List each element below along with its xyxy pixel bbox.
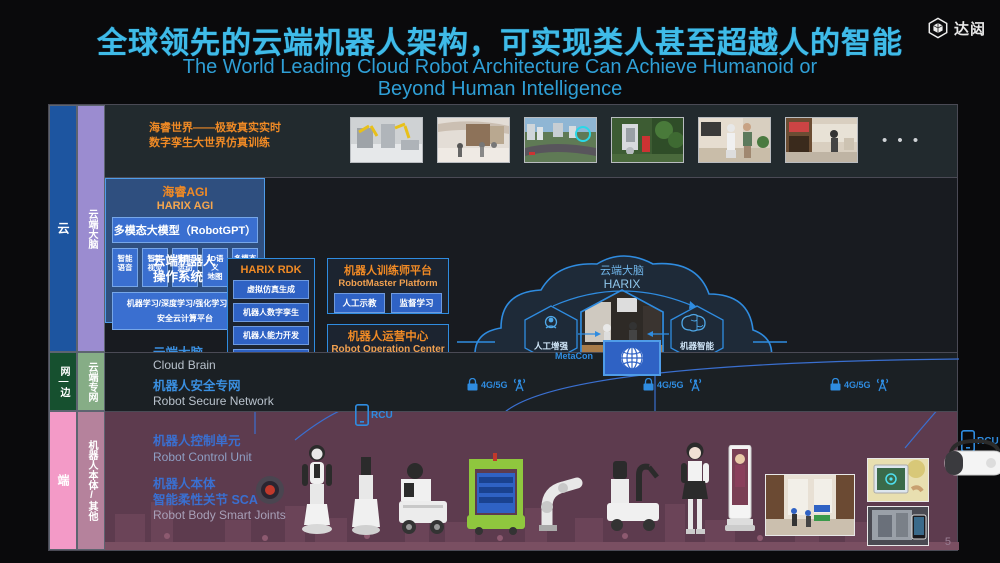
slide-header: 全球领先的云端机器人架构，可实现类人甚至超越人的智能 The World Lea… [0,0,1000,104]
device-humanoid-robot-female [677,441,713,540]
antenna-icon [874,377,891,392]
lock-icon [643,378,654,391]
rdk-item-1[interactable]: 机器人数字孪生 [233,303,309,322]
cloud-os-label: 云端机器人 操作系统 [153,253,216,285]
metacon-label: MetaCon [555,351,593,361]
simulation-strip-label: 海睿世界——极致真实实时 数字孪生大世界仿真训练 [149,121,281,151]
brand-name: 达闼 [954,18,986,39]
metacon-node[interactable] [603,340,661,376]
rail-edge-inner-label: 机器人本体/其他 [84,440,98,521]
device-showroom-display [765,474,855,536]
lock-icon [467,378,478,391]
agi-cap-0-l2: 语音 [113,263,137,272]
rcu-left-label: RCU [371,410,393,421]
device-digital-signage-kiosk [725,445,755,538]
rail-edge-outer: 端 [49,411,77,550]
thumbnail-smart-city-aerial [524,117,597,163]
lock-icon [830,378,841,391]
device-cleaning-robot [349,457,383,540]
simulation-thumbnails: • • • [350,117,921,163]
agi-title-cn: 海睿AGI [106,183,264,200]
robotmaster-items: 人工示教 监督学习 [334,293,442,313]
thumbnail-outdoor-robot-garden [611,117,684,163]
architecture-frame: 云 云端大脑 网—边 云端专网 端 机器人本体/其他 海睿世界——极致真实实时 … [48,104,958,551]
page-number: 5 [945,536,951,548]
page-title-en: The World Leading Cloud Robot Architectu… [120,56,880,100]
signal-group-3: 4G/5G [830,377,891,392]
operation-center-title-cn: 机器人运营中心 [328,328,448,344]
rail-edge-inner: 机器人本体/其他 [77,411,105,550]
signal-label-3: 4G/5G [844,380,871,390]
thumbnail-robot-arms-factory [350,117,423,163]
cloud-band: 云端机器人 操作系统 云端大脑 HARIX RDK 虚拟仿真生成 机器人数字孪生… [105,177,957,352]
robot-body-cn: 机器人本体 智能柔性关节 SCA [153,476,258,508]
antenna-icon [511,377,528,392]
signal-label-1: 4G/5G [481,380,508,390]
cloud-label-en: HARIX [580,277,664,291]
hexagon-cube-icon [927,17,949,39]
signal-group-2: 4G/5G [643,377,704,392]
page-title-en-line2: Beyond Human Intelligence [120,78,880,100]
device-smart-joint-actuator [255,475,285,510]
simulation-strip: 海睿世界——极致真实实时 数字孪生大世界仿真训练 [105,105,957,177]
slide-root: 全球领先的云端机器人架构，可实现类人甚至超越人的智能 The World Lea… [0,0,1000,563]
agi-capability-voice[interactable]: 智能 语音 [112,248,138,287]
rail-net-outer-label: 网—边 [56,366,70,397]
rail-cloud-outer: 云 [49,105,77,352]
robot-control-unit-en: Robot Control Unit [153,450,252,464]
rail-cloud-inner-label: 云端大脑 [84,209,98,249]
signal-label-2: 4G/5G [657,380,684,390]
rail-edge-outer-label: 端 [56,474,70,487]
rdk-item-0[interactable]: 虚拟仿真生成 [233,280,309,299]
robotmaster-title-cn: 机器人训练师平台 [328,262,448,278]
page-title-en-line1: The World Leading Cloud Robot Architectu… [120,56,880,78]
robot-body-en: Robot Body Smart Joints [153,508,286,522]
agi-cap-0-l1: 智能 [113,254,137,263]
device-vending-robot-cart [465,453,527,540]
device-ar-phone-camera [867,506,929,546]
network-band: Cloud Brain 机器人安全专网 Robot Secure Network [105,352,957,411]
device-humanoid-service-robot [297,443,337,540]
rail-net-outer: 网—边 [49,352,77,411]
harix-rdk-title: HARIX RDK [228,264,314,276]
cloud-os-label-line1: 云端机器人 [153,253,216,269]
rail-net-inner-label: 云端专网 [84,362,98,402]
smartphone-icon [355,404,369,426]
rail-cloud-outer-label: 云 [56,222,70,235]
cloud-os-label-line2: 操作系统 [153,269,216,285]
brand-logo: 达闼 [927,17,986,39]
globe-icon [619,345,645,371]
thumbnail-robot-cafe-interior [785,117,858,163]
device-vr-headset [939,439,1000,488]
thumbnails-ellipsis: • • • [882,132,921,149]
rcu-left[interactable] [355,404,369,431]
device-ar-tablet [867,458,929,502]
device-patrol-robot-arm [605,455,665,540]
simulation-label-line1: 海睿世界——极致真实实时 [149,121,281,136]
rail-net-inner: 云端专网 [77,352,105,411]
thumbnail-humanoid-robot-with-person [698,117,771,163]
device-robotic-arm [537,473,585,536]
simulation-label-line2: 数字孪生大世界仿真训练 [149,136,281,151]
thumbnail-robots-in-lobby [437,117,510,163]
signal-group-1: 4G/5G [467,377,528,392]
robotmaster-item-0[interactable]: 人工示教 [334,293,385,313]
robotmaster-item-1[interactable]: 监督学习 [391,293,442,313]
robotmaster-title-en: RobotMaster Platform [328,278,448,289]
cloud-label-cn: 云端大脑 [580,262,664,278]
rdk-item-2[interactable]: 机器人能力开发 [233,326,309,345]
panel-robotmaster[interactable]: 机器人训练师平台 RobotMaster Platform 人工示教 监督学习 [327,258,449,314]
robot-body-cn-line1: 机器人本体 [153,476,258,492]
robot-control-unit-cn: 机器人控制单元 [153,434,241,449]
rail-cloud-inner: 云端大脑 [77,105,105,352]
device-delivery-robot [395,461,451,540]
robot-body-cn-line2: 智能柔性关节 SCA [153,492,258,508]
antenna-icon [687,377,704,392]
edge-band: RCU RCU 机器人控制单元 Robot Control Unit 机器人本体… [105,411,957,550]
agi-model-label[interactable]: 多模态大模型（RobotGPT） [112,217,258,243]
cloud-node-machine-intelligence[interactable]: 机器智能 [667,340,727,352]
agi-title-en: HARIX AGI [106,200,264,212]
